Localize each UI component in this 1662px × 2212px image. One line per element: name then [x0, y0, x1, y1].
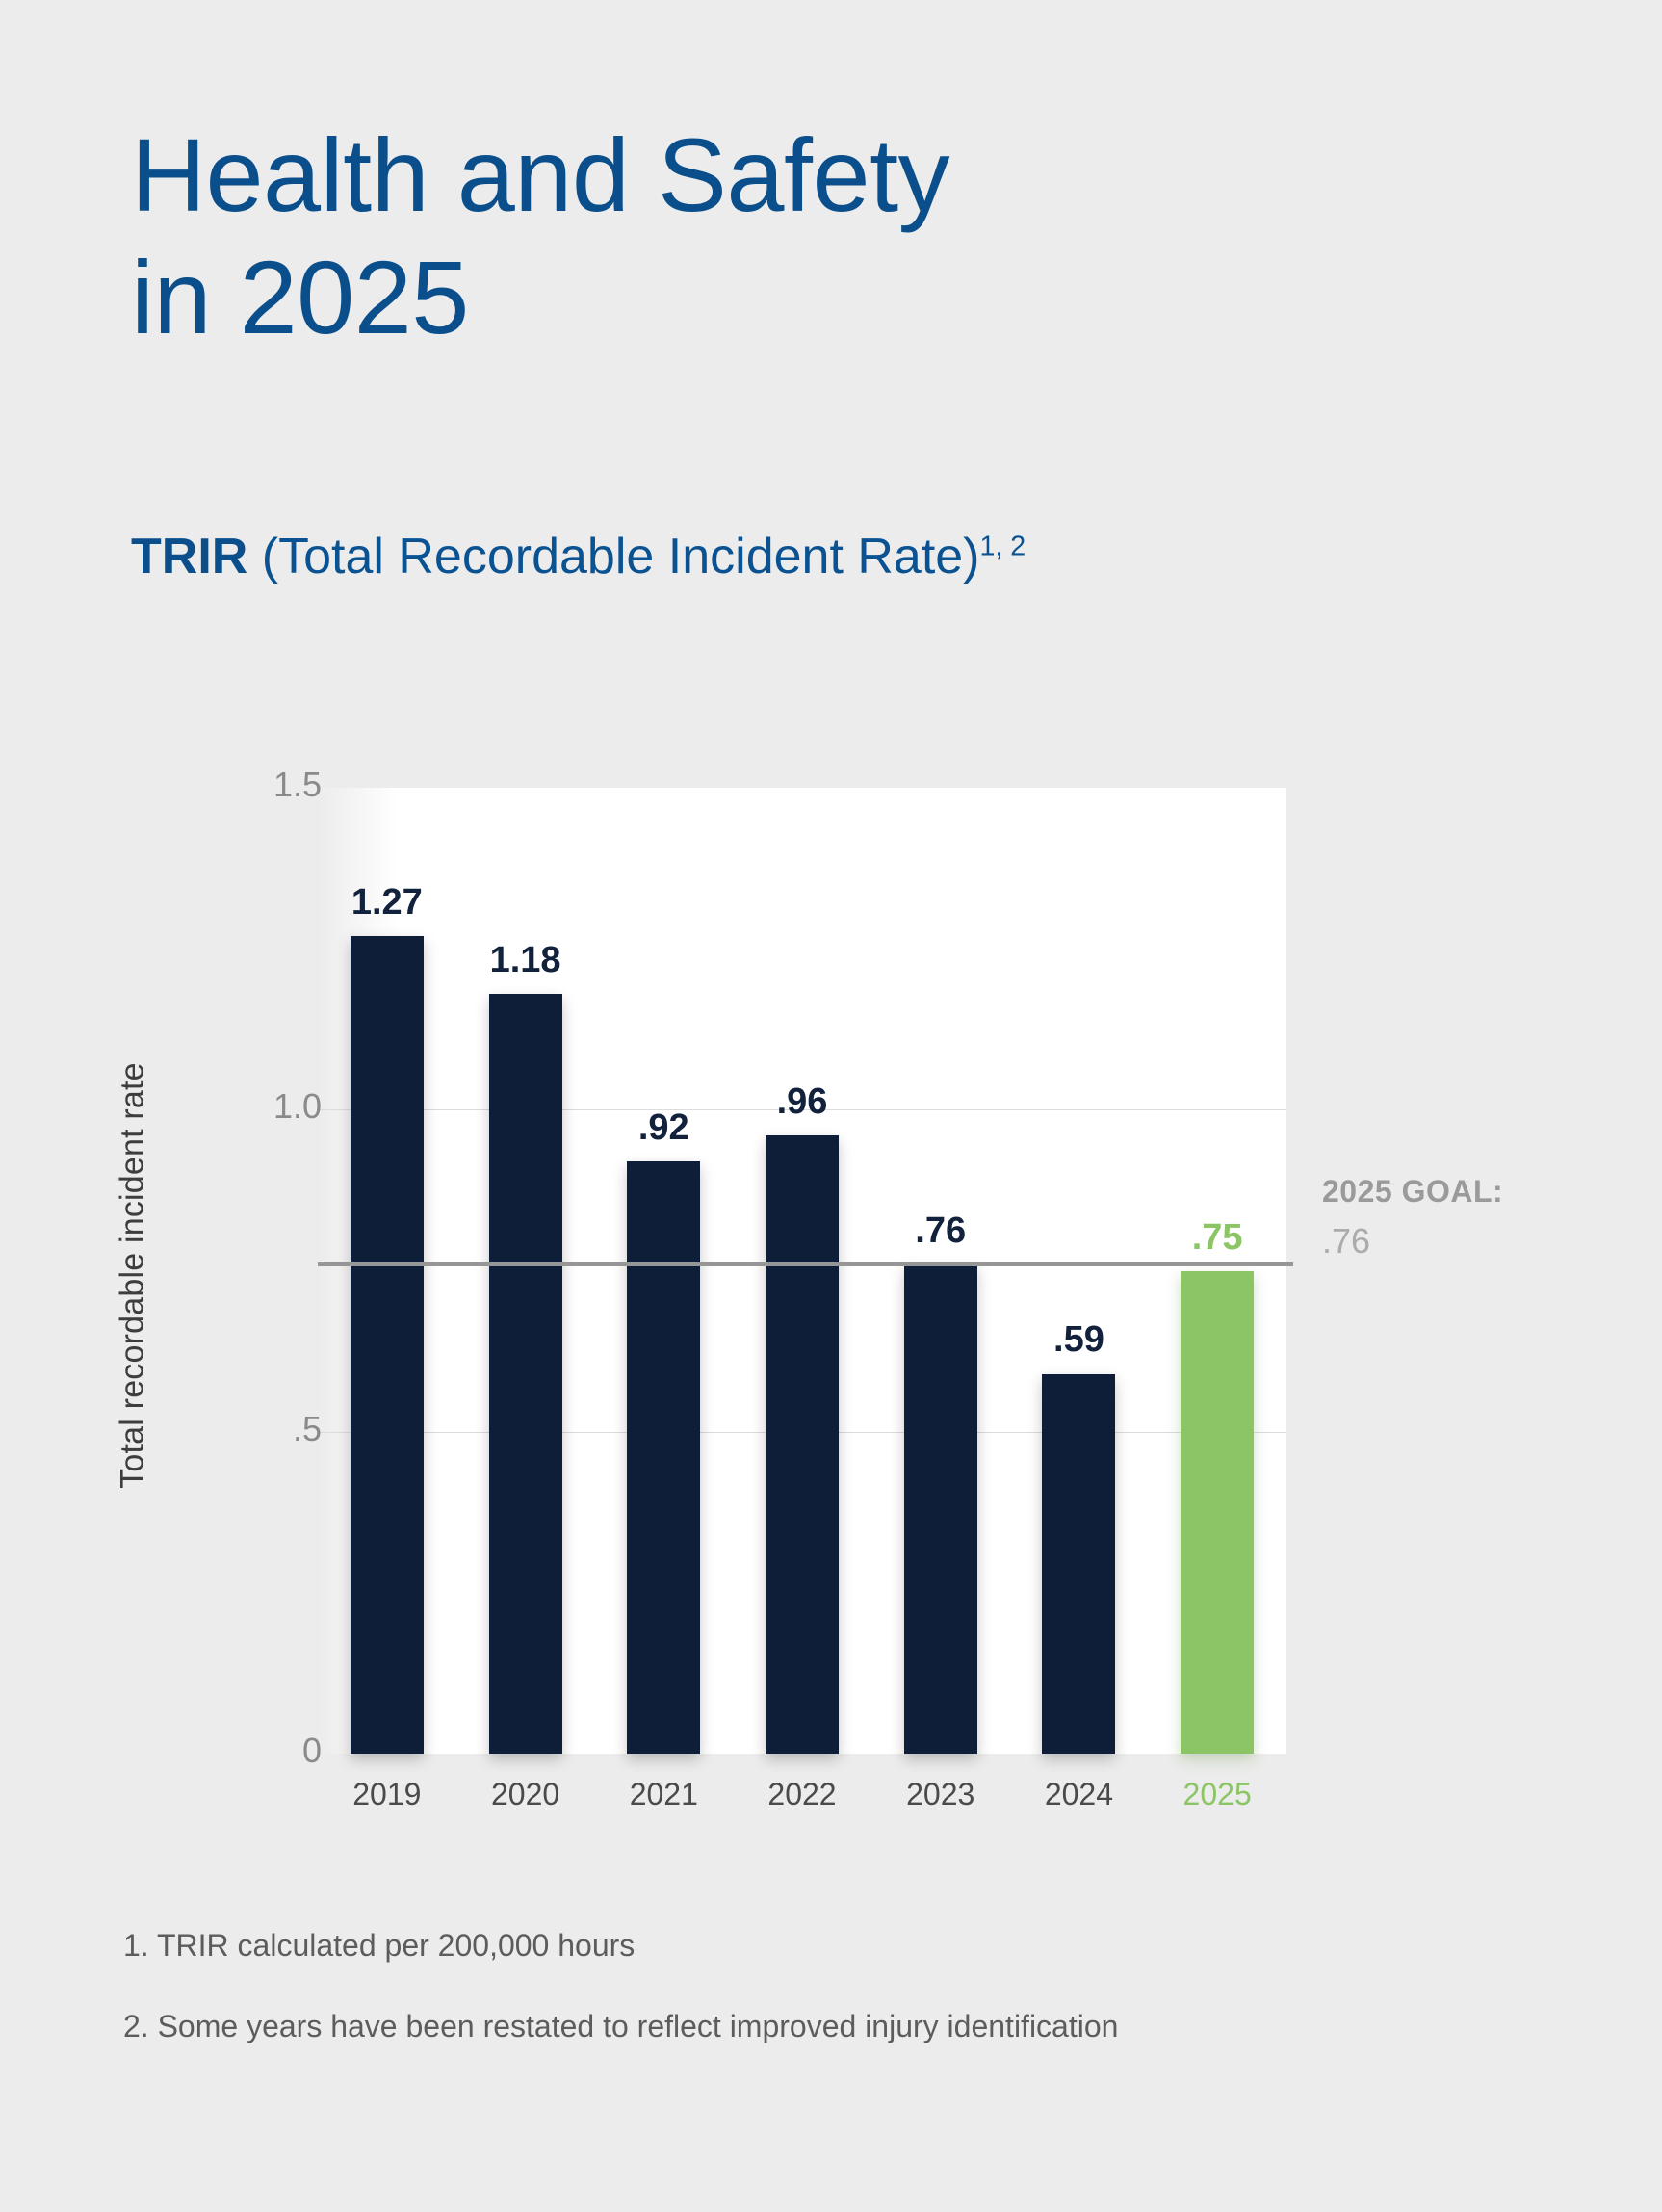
footnote-2: 2. Some years have been restated to refl… [123, 2007, 1519, 2045]
trir-bar-chart: Total recordable incident rate 1.271.18.… [0, 0, 1662, 2212]
bar-2025: .75 [1181, 788, 1254, 1754]
footnote-1: 1. TRIR calculated per 200,000 hours [123, 1926, 1519, 1965]
bar-value-label: .59 [1053, 1319, 1104, 1361]
bar-column [766, 1135, 839, 1754]
bar-column [351, 936, 424, 1754]
goal-annotation: 2025 GOAL: .76 [1322, 1174, 1630, 1262]
y-tick-1.0: 1.0 [273, 1086, 322, 1127]
x-tick-2020: 2020 [458, 1777, 593, 1812]
bar-2024: .59 [1042, 788, 1115, 1754]
y-axis-title: Total recordable incident rate [115, 968, 152, 1584]
y-tick-.5: .5 [293, 1409, 322, 1449]
x-tick-2021: 2021 [596, 1777, 731, 1812]
x-tick-2024: 2024 [1011, 1777, 1146, 1812]
bar-value-label: .75 [1192, 1217, 1243, 1259]
bar-value-label: 1.18 [490, 940, 561, 981]
bar-2023: .76 [904, 788, 977, 1754]
bar-column [1181, 1271, 1254, 1755]
plot-area: 1.271.18.92.96.76.59.75 [318, 788, 1286, 1754]
bar-2022: .96 [766, 788, 839, 1754]
bar-column [904, 1264, 977, 1754]
x-tick-2019: 2019 [320, 1777, 454, 1812]
bar-2020: 1.18 [489, 788, 562, 1754]
y-tick-1.5: 1.5 [273, 765, 322, 805]
y-tick-0: 0 [302, 1731, 322, 1771]
x-tick-2025: 2025 [1150, 1777, 1285, 1812]
bar-2019: 1.27 [351, 788, 424, 1754]
bar-value-label: 1.27 [351, 882, 423, 924]
footnotes: 1. TRIR calculated per 200,000 hours2. S… [123, 1926, 1519, 2088]
goal-annotation-title: 2025 GOAL: [1322, 1174, 1630, 1210]
bar-value-label: .96 [777, 1081, 828, 1123]
x-tick-2023: 2023 [873, 1777, 1008, 1812]
bar-2021: .92 [627, 788, 700, 1754]
bar-column [1042, 1374, 1115, 1755]
bar-column [489, 994, 562, 1754]
goal-annotation-value: .76 [1322, 1221, 1630, 1262]
bar-column [627, 1161, 700, 1754]
x-tick-2022: 2022 [735, 1777, 870, 1812]
bar-value-label: .92 [638, 1107, 689, 1149]
goal-reference-line [318, 1262, 1293, 1266]
bar-value-label: .76 [915, 1210, 966, 1252]
